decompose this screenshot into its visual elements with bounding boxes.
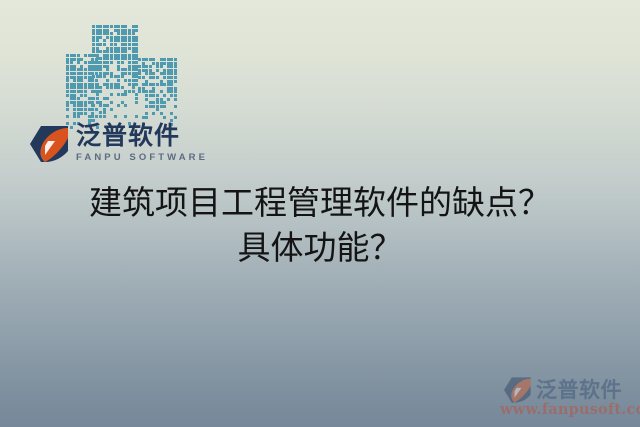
- fanpu-logo-mark-watermark-icon: [502, 376, 534, 404]
- watermark-brand-name: 泛普软件: [536, 374, 622, 404]
- watermark: 泛普软件 www.fanpusoft.com: [478, 372, 640, 424]
- watermark-url: www.fanpusoft.com: [500, 401, 640, 418]
- brand-logo: 泛普软件 FANPU SOFTWARE: [28, 122, 204, 168]
- fanpu-logo-mark-icon: [28, 124, 72, 164]
- brand-name-cn: 泛普软件: [76, 122, 208, 150]
- page-title-line-1: 建筑项目工程管理软件的缺点？: [0, 180, 640, 225]
- brand-name-en: FANPU SOFTWARE: [76, 151, 208, 164]
- brand-logo-text: 泛普软件 FANPU SOFTWARE: [76, 122, 208, 164]
- poster-canvas: 泛普软件 FANPU SOFTWARE 建筑项目工程管理软件的缺点？ 具体功能？…: [0, 0, 640, 427]
- page-title: 建筑项目工程管理软件的缺点？ 具体功能？: [0, 180, 640, 270]
- pixel-building-skyline-icon: [62, 14, 172, 116]
- page-title-line-2: 具体功能？: [0, 225, 640, 270]
